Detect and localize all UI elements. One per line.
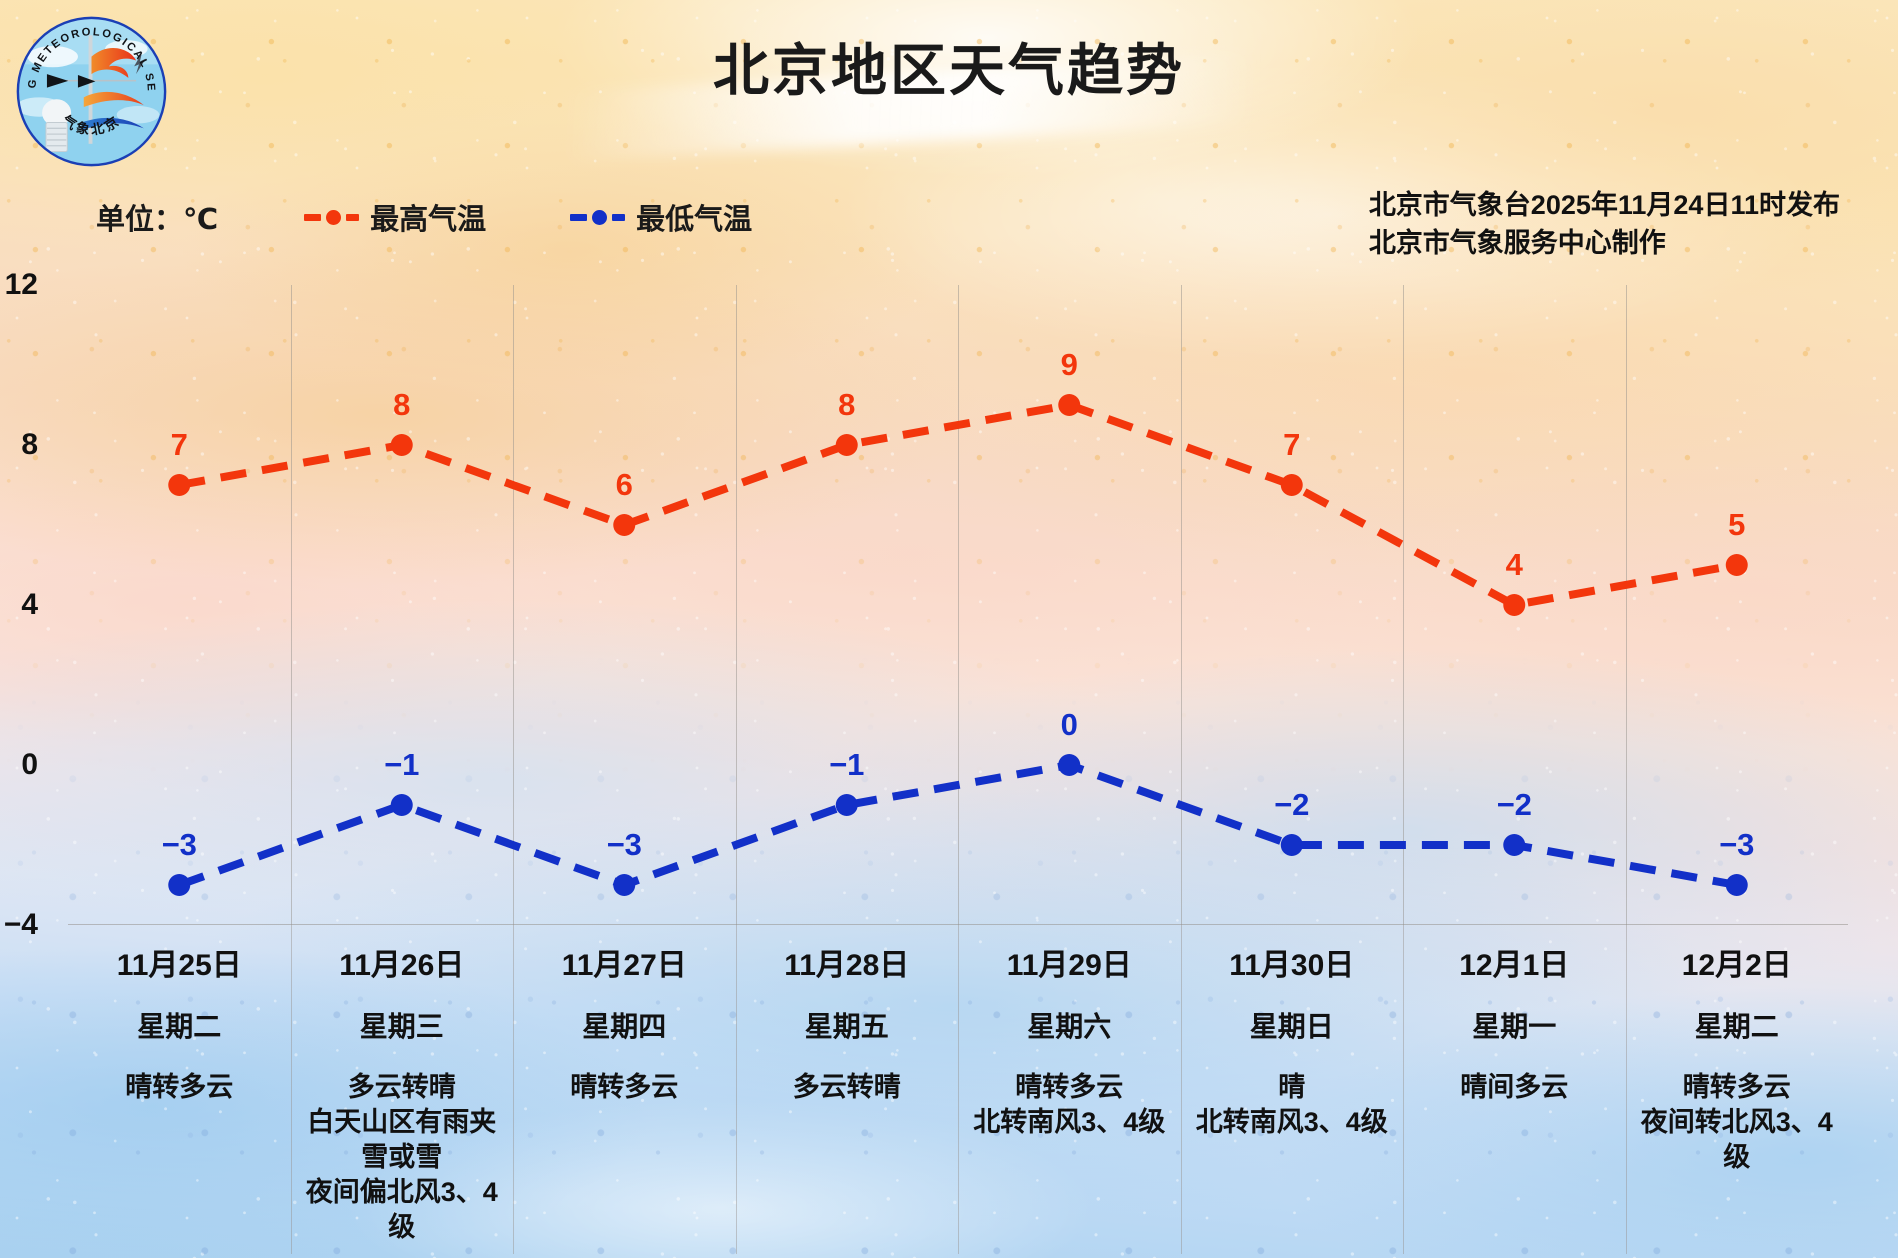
day-weather-description: 多云转晴白天山区有雨夹雪或雪夜间偏北风3、4级 — [304, 1070, 500, 1245]
day-weekday: 星期三 — [360, 1010, 444, 1044]
legend-item-high-temp: 最高气温 — [304, 196, 486, 238]
day-columns: 11月25日星期二晴转多云11月26日星期三多云转晴白天山区有雨夹雪或雪夜间偏北… — [68, 930, 1848, 1254]
day-date: 12月1日 — [1459, 948, 1569, 984]
day-column: 12月1日星期一晴间多云 — [1403, 930, 1626, 1254]
low-temp-value-label: −2 — [1274, 787, 1309, 823]
day-weekday: 星期二 — [137, 1010, 221, 1044]
day-weather-description: 晴北转南风3、4级 — [1196, 1070, 1388, 1140]
data-point-marker — [168, 874, 190, 896]
high-temp-value-label: 6 — [616, 467, 633, 503]
day-weekday: 星期二 — [1695, 1010, 1779, 1044]
publisher-issue-line: 北京市气象台2025年11月24日11时发布 — [1369, 186, 1840, 224]
data-point-marker — [391, 434, 413, 456]
page-title: 北京地区天气趋势 — [0, 26, 1898, 107]
data-point-marker — [1726, 554, 1748, 576]
data-point-marker — [1058, 754, 1080, 776]
high-temp-value-label: 9 — [1061, 347, 1078, 383]
legend-label-low-temp: 最低气温 — [636, 196, 752, 238]
data-point-marker — [1058, 394, 1080, 416]
day-date: 11月28日 — [784, 948, 909, 984]
day-date: 11月29日 — [1007, 948, 1132, 984]
day-weekday: 星期四 — [582, 1010, 666, 1044]
day-weather-description: 晴间多云 — [1460, 1070, 1568, 1105]
data-point-marker — [836, 794, 858, 816]
data-point-marker — [168, 474, 190, 496]
day-weekday: 星期六 — [1027, 1010, 1111, 1044]
day-date: 12月2日 — [1682, 948, 1792, 984]
high-temp-value-label: 7 — [171, 427, 188, 463]
day-weekday: 星期日 — [1250, 1010, 1334, 1044]
high-temp-value-label: 7 — [1283, 427, 1300, 463]
low-temp-value-label: −2 — [1497, 787, 1532, 823]
day-date: 11月26日 — [339, 948, 464, 984]
low-temp-value-label: −1 — [829, 747, 864, 783]
legend-item-low-temp: 最低气温 — [570, 196, 752, 238]
data-point-marker — [1726, 874, 1748, 896]
low-temp-value-label: 0 — [1061, 707, 1078, 743]
publisher-info: 北京市气象台2025年11月24日11时发布 北京市气象服务中心制作 — [1369, 186, 1840, 263]
dashed-line-with-dot-icon — [570, 210, 625, 225]
day-weekday: 星期五 — [805, 1010, 889, 1044]
y-axis-tick-label: 8 — [0, 428, 38, 462]
day-weather-description: 多云转晴 — [793, 1070, 901, 1105]
day-column: 11月26日星期三多云转晴白天山区有雨夹雪或雪夜间偏北风3、4级 — [291, 930, 514, 1254]
low-temp-value-label: −3 — [162, 827, 197, 863]
low-temp-value-label: −1 — [384, 747, 419, 783]
data-point-marker — [1281, 474, 1303, 496]
data-point-marker — [836, 434, 858, 456]
high-temp-value-label: 8 — [393, 387, 410, 423]
day-column: 11月28日星期五多云转晴 — [736, 930, 959, 1254]
low-temp-value-label: −3 — [1719, 827, 1754, 863]
data-point-marker — [613, 514, 635, 536]
day-column: 11月25日星期二晴转多云 — [68, 930, 291, 1254]
data-point-marker — [613, 874, 635, 896]
day-date: 11月27日 — [562, 948, 687, 984]
unit-label: 单位：℃ — [96, 196, 218, 238]
y-axis-tick-label: 4 — [0, 588, 38, 622]
day-column: 11月27日星期四晴转多云 — [513, 930, 736, 1254]
day-date: 11月25日 — [117, 948, 242, 984]
day-weather-description: 晴转多云夜间转北风3、4级 — [1639, 1070, 1835, 1175]
day-weather-description: 晴转多云北转南风3、4级 — [973, 1070, 1165, 1140]
high-temp-value-label: 8 — [838, 387, 855, 423]
y-axis-tick-label: 12 — [0, 268, 38, 302]
day-weekday: 星期一 — [1472, 1010, 1556, 1044]
high-temp-value-label: 5 — [1728, 507, 1745, 543]
day-column: 12月2日星期二晴转多云夜间转北风3、4级 — [1626, 930, 1849, 1254]
publisher-producer-line: 北京市气象服务中心制作 — [1369, 224, 1840, 262]
chart-series-layer — [68, 285, 1848, 925]
day-weather-description: 晴转多云 — [125, 1070, 233, 1105]
legend-label-high-temp: 最高气温 — [370, 196, 486, 238]
temperature-trend-chart: 12840−4 78689745−3−1−3−10−2−2−3 — [68, 285, 1848, 925]
data-point-marker — [1503, 834, 1525, 856]
series-line-low-temp — [179, 765, 1737, 885]
day-column: 11月29日星期六晴转多云北转南风3、4级 — [958, 930, 1181, 1254]
y-axis-tick-label: 0 — [0, 748, 38, 782]
dashed-line-with-dot-icon — [304, 210, 359, 225]
series-line-high-temp — [179, 405, 1737, 605]
chart-legend: 单位：℃ 最高气温 最低气温 — [96, 196, 836, 238]
data-point-marker — [391, 794, 413, 816]
low-temp-value-label: −3 — [607, 827, 642, 863]
high-temp-value-label: 4 — [1506, 547, 1523, 583]
data-point-marker — [1281, 834, 1303, 856]
day-weather-description: 晴转多云 — [570, 1070, 678, 1105]
day-date: 11月30日 — [1229, 948, 1354, 984]
data-point-marker — [1503, 594, 1525, 616]
day-column: 11月30日星期日晴北转南风3、4级 — [1181, 930, 1404, 1254]
y-axis-tick-label: −4 — [0, 908, 38, 942]
